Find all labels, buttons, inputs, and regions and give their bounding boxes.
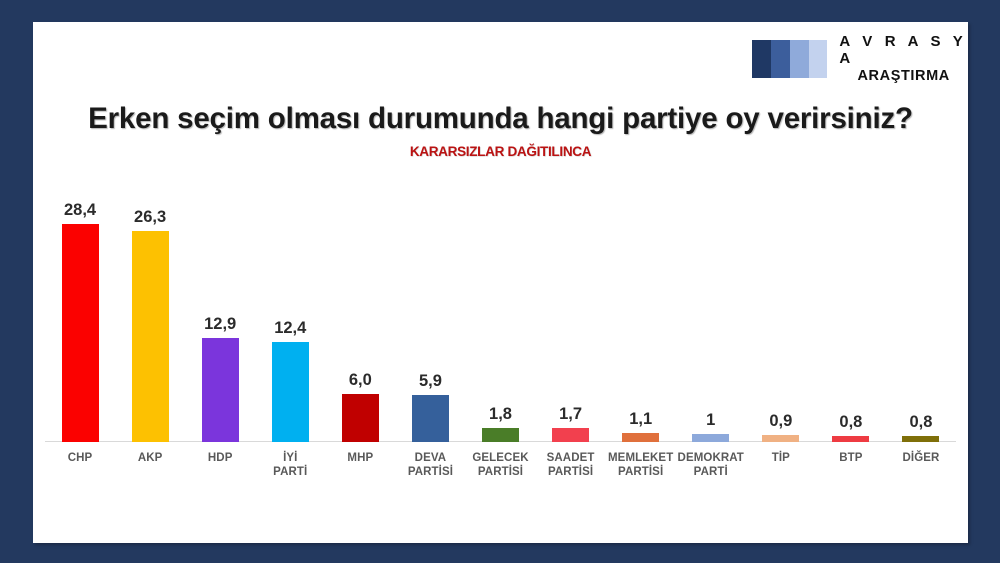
bar-value-label: 1 [706,411,715,430]
bar-category-label: DİĞER [903,451,940,465]
chart-title: Erken seçim olması durumunda hangi parti… [33,102,968,136]
bar-rect[interactable] [272,342,309,442]
slide-content-panel: A V R A S Y A ARAŞTIRMA Erken seçim olma… [33,22,968,543]
bar-rect[interactable] [902,436,939,442]
logo-block-2 [771,40,790,78]
bar-category-label: MEMLEKET PARTİSİ [608,451,673,479]
bar-category-label: İYİ PARTİ [273,451,308,479]
logo-block-3 [790,40,809,78]
bar-group[interactable]: 5,9DEVA PARTİSİ [395,201,465,442]
bar-group[interactable]: 0,9TİP [746,201,816,442]
bar-value-label: 1,7 [559,405,582,424]
bar-group[interactable]: 28,4CHP [45,201,115,442]
bar-group[interactable]: 1,7SAADET PARTİSİ [536,201,606,442]
logo-block-4 [809,40,828,78]
bar-group[interactable]: 26,3AKP [115,201,185,442]
bar-rect[interactable] [342,394,379,442]
bar-series-container: 28,4CHP26,3AKP12,9HDP12,4İYİ PARTİ6,0MHP… [45,201,956,442]
bar-group[interactable]: 1,8GELECEK PARTİSİ [465,201,535,442]
bar-rect[interactable] [762,435,799,442]
bar-rect[interactable] [62,224,99,442]
bar-rect[interactable] [832,436,869,442]
bar-group[interactable]: 0,8DİĞER [886,201,956,442]
bar-value-label: 12,9 [204,315,236,334]
bar-value-label: 6,0 [349,371,372,390]
bar-value-label: 1,8 [489,405,512,424]
bar-value-label: 0,9 [769,412,792,431]
bar-group[interactable]: 6,0MHP [325,201,395,442]
bar-rect[interactable] [202,338,239,442]
bar-rect[interactable] [692,434,729,442]
bar-value-label: 12,4 [274,319,306,338]
bar-chart-plot-area: 28,4CHP26,3AKP12,9HDP12,4İYİ PARTİ6,0MHP… [45,202,956,502]
bar-group[interactable]: 12,4İYİ PARTİ [255,201,325,442]
bar-rect[interactable] [132,231,169,442]
logo-wordmark: A V R A S Y A ARAŞTIRMA [839,34,968,84]
bar-value-label: 0,8 [839,413,862,432]
bar-category-label: BTP [839,451,862,465]
slide-frame: A V R A S Y A ARAŞTIRMA Erken seçim olma… [0,0,1000,563]
bar-category-label: TİP [772,451,790,465]
bar-value-label: 26,3 [134,208,166,227]
bar-category-label: HDP [208,451,233,465]
bar-rect[interactable] [412,395,449,442]
bar-category-label: MHP [347,451,373,465]
bar-value-label: 5,9 [419,372,442,391]
bar-group[interactable]: 0,8BTP [816,201,886,442]
bar-category-label: DEMOKRAT PARTİ [678,451,744,479]
bar-category-label: AKP [138,451,163,465]
logo-block-1 [752,40,771,78]
bar-category-label: SAADET PARTİSİ [547,451,595,479]
bar-group[interactable]: 1,1MEMLEKET PARTİSİ [606,201,676,442]
bar-value-label: 0,8 [910,413,933,432]
bar-rect[interactable] [622,433,659,442]
bar-category-label: DEVA PARTİSİ [408,451,453,479]
bar-value-label: 28,4 [64,201,96,220]
brand-logo: A V R A S Y A ARAŞTIRMA [752,34,968,84]
bar-category-label: GELECEK PARTİSİ [472,451,528,479]
bar-rect[interactable] [482,428,519,442]
bar-group[interactable]: 12,9HDP [185,201,255,442]
chart-subtitle: KARARSIZLAR DAĞITILINCA [33,144,968,159]
logo-line-2: ARAŞTIRMA [857,68,949,84]
bar-category-label: CHP [68,451,93,465]
bar-group[interactable]: 1DEMOKRAT PARTİ [676,201,746,442]
logo-line-1: A V R A S Y A [839,34,968,68]
logo-color-blocks [752,40,827,78]
bar-value-label: 1,1 [629,410,652,429]
bar-rect[interactable] [552,428,589,442]
